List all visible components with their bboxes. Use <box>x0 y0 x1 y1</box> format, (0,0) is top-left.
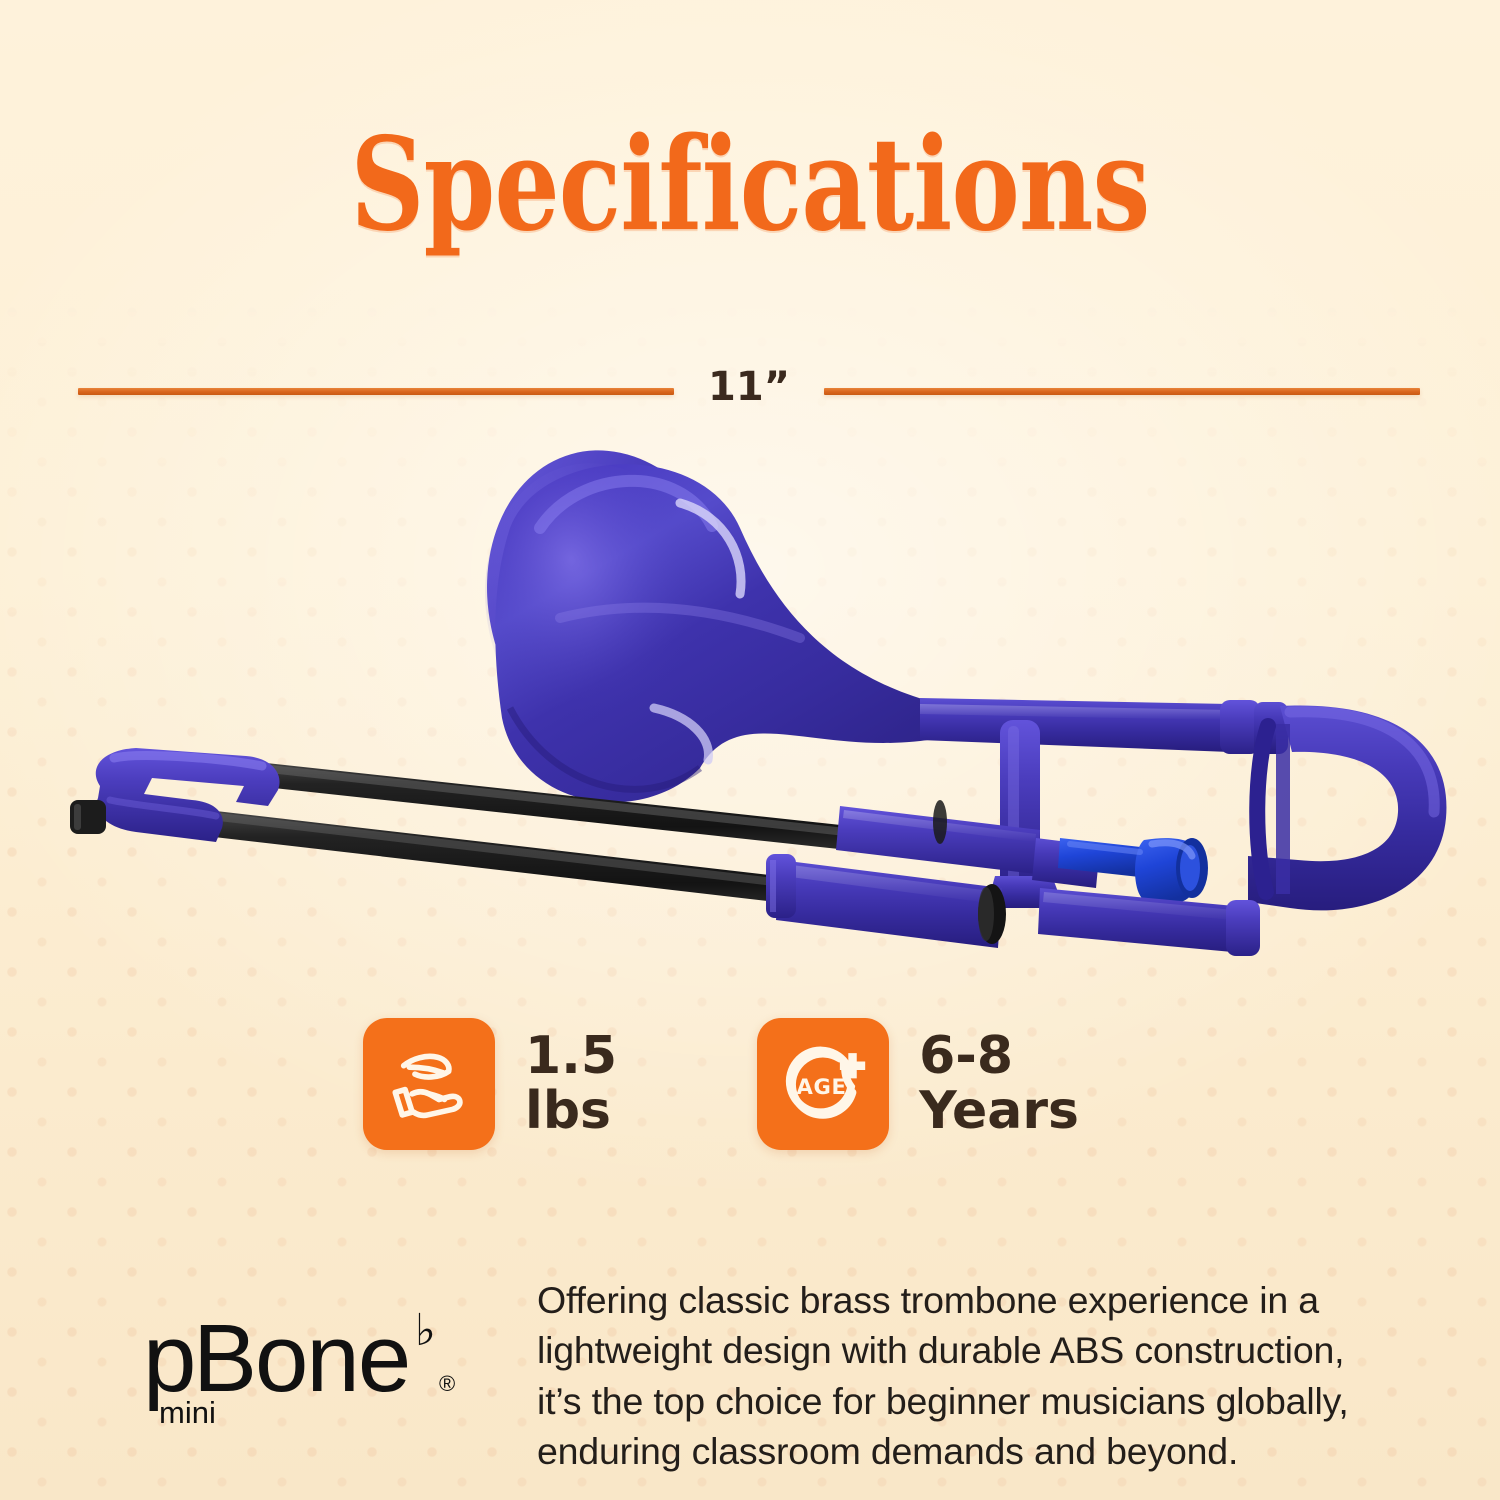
age-unit: Years <box>919 1084 1079 1139</box>
weight-badge-tile <box>363 1018 495 1150</box>
trombone-slide-tubes <box>188 758 850 908</box>
weight-unit: lbs <box>525 1084 617 1139</box>
svg-text:♭: ♭ <box>415 1305 436 1356</box>
trombone-lower-tube <box>1038 888 1260 956</box>
svg-text:®: ® <box>439 1371 455 1396</box>
dimension-line-right <box>824 388 1420 395</box>
dimension-label: 11” <box>674 367 824 407</box>
spec-item-age: AGE 6-8 Years <box>757 1018 1079 1150</box>
weight-value: 1.5 <box>525 1026 617 1086</box>
svg-text:AGE: AGE <box>797 1074 847 1099</box>
svg-text:mini: mini <box>159 1395 216 1430</box>
spec-badges-row: 1.5 lbs AGE 6-8 Years <box>363 1018 1079 1150</box>
age-badge-tile: AGE <box>757 1018 889 1150</box>
trombone-bell-loop <box>1248 705 1446 910</box>
dimension-rule: 11” <box>78 377 1420 405</box>
dimension-line-left <box>78 388 674 395</box>
age-plus-icon: AGE <box>778 1039 868 1129</box>
pbone-mini-logo: p Bone ♭ ® mini <box>143 1305 488 1435</box>
trombone-illustration <box>40 408 1470 1008</box>
page-title: Specifications <box>150 118 1350 252</box>
footer: p Bone ♭ ® mini Offering classic brass t… <box>0 1275 1500 1475</box>
age-value: 6-8 <box>919 1026 1013 1086</box>
svg-text:Bone: Bone <box>193 1305 409 1412</box>
age-text: 6-8 Years <box>919 1029 1079 1139</box>
product-description: Offering classic brass trombone experien… <box>537 1275 1382 1476</box>
trombone-bell <box>451 420 940 803</box>
trombone-bell-tube <box>920 698 1288 754</box>
spec-item-weight: 1.5 lbs <box>363 1018 617 1150</box>
weight-text: 1.5 lbs <box>525 1029 617 1139</box>
hand-holding-leaf-icon <box>384 1039 474 1129</box>
